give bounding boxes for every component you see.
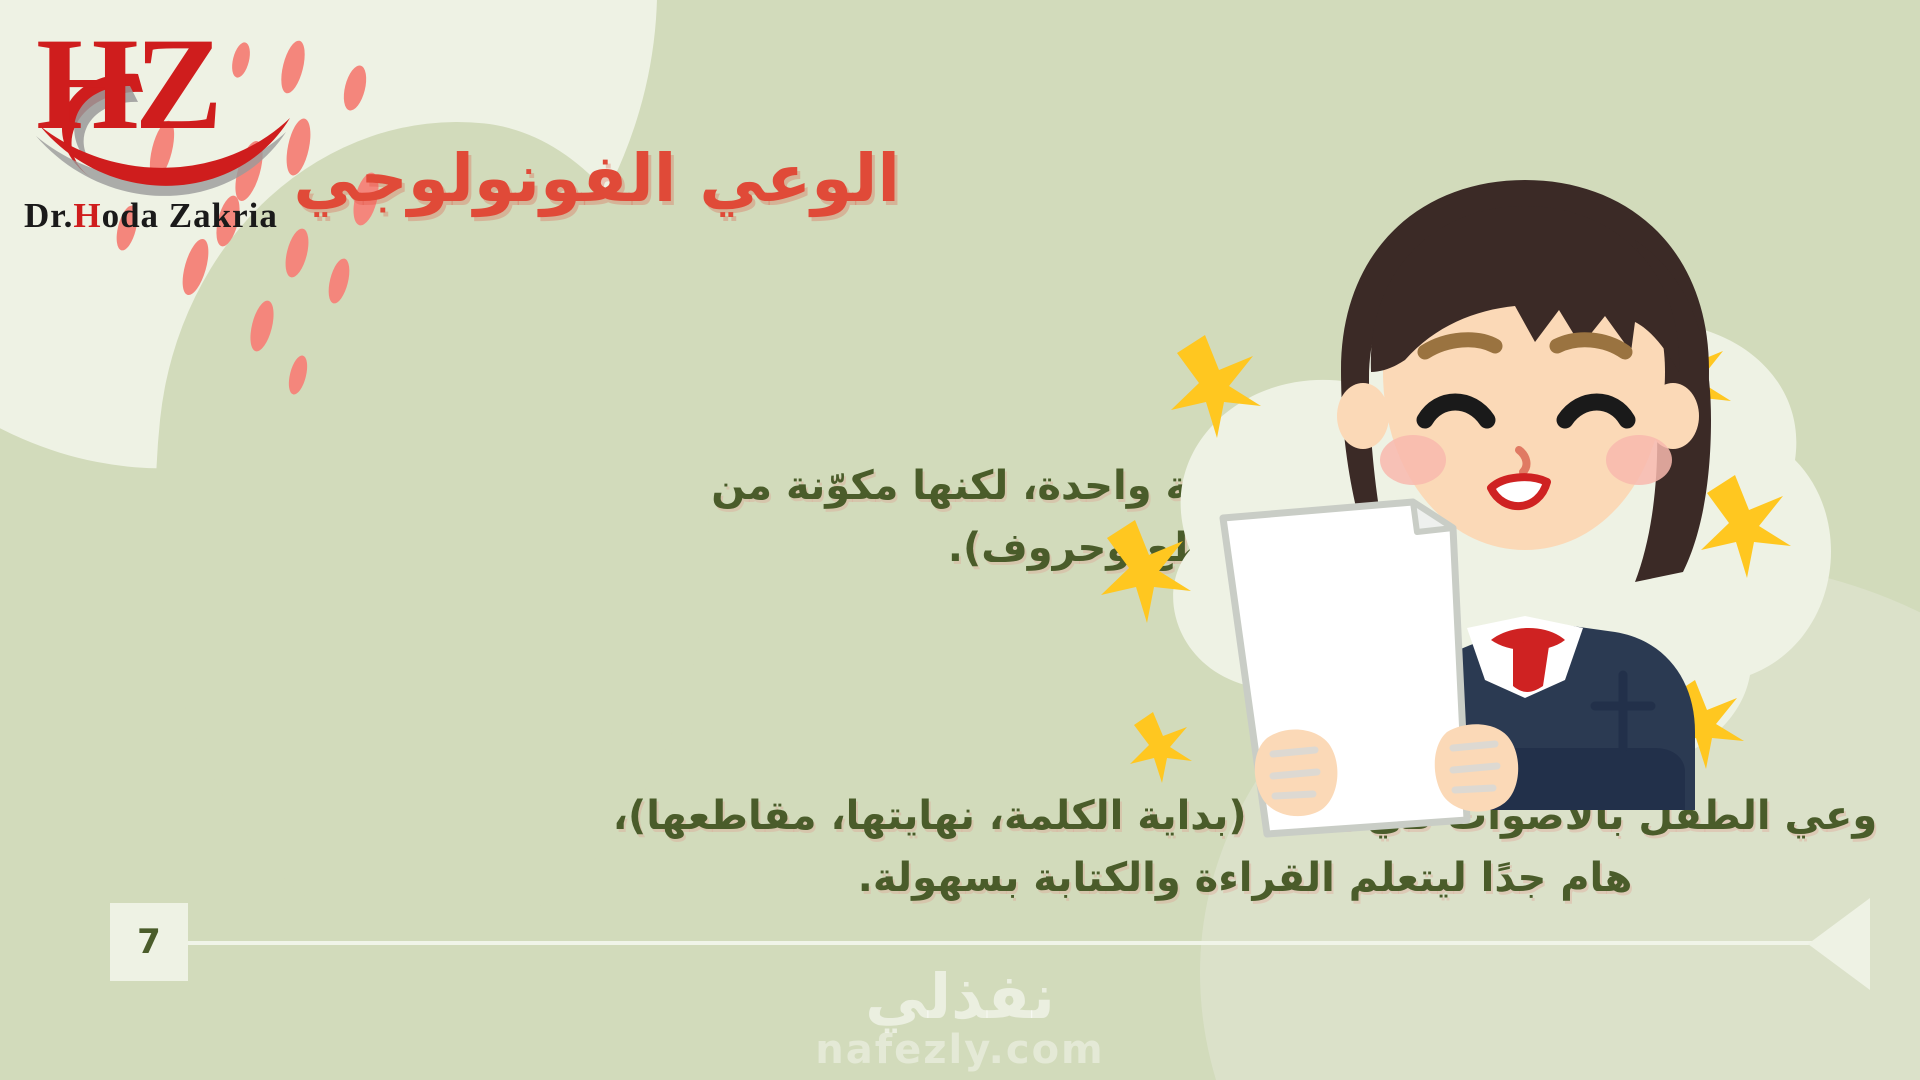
- page-number-box: 7: [110, 903, 188, 981]
- logo-name-rest: oda Zakria: [102, 196, 278, 235]
- play-left-triangle-icon[interactable]: [1808, 898, 1870, 990]
- slide-title: الوعي الفونولوجي: [360, 140, 900, 217]
- footer-divider-line: [188, 941, 1830, 945]
- logo-name-initial: H: [73, 196, 101, 235]
- logo-monogram-text: HZ: [36, 10, 219, 157]
- girl-reading-paper-illustration: [1095, 120, 1895, 840]
- paragraph-two-line-2: هام جدًا ليتعلم القراءة والكتابة بسهولة.: [610, 847, 1880, 909]
- logo-name-prefix: Dr.: [24, 196, 73, 235]
- slide-canvas: HZ HZ Dr.Hoda Zakria الوعي الفونولوجي مع…: [0, 0, 1920, 1080]
- logo-monogram: HZ HZ: [36, 18, 286, 168]
- page-number: 7: [137, 922, 161, 962]
- logo-name: Dr.Hoda Zakria: [24, 196, 278, 236]
